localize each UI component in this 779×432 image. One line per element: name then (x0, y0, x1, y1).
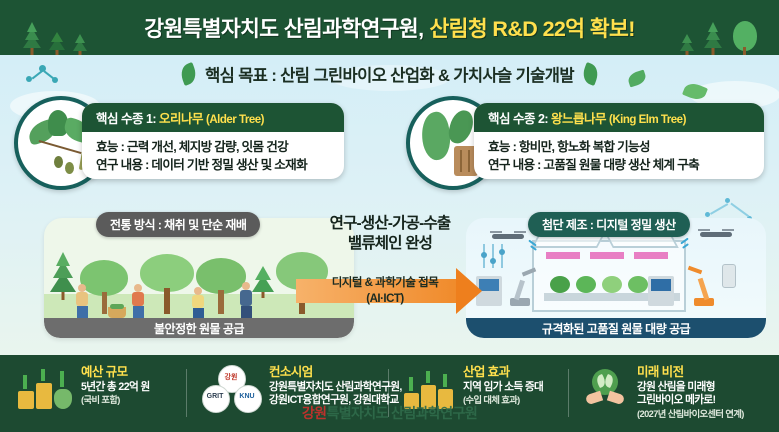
smart-pill-text: 첨단 제조 : 디지털 정밀 생산 (542, 218, 676, 232)
drone-icon (698, 228, 734, 242)
wifi-signal-icon (528, 240, 542, 252)
page-title: 강원특별자치도 산림과학연구원, 산림청 R&D 22억 확보! (0, 0, 779, 55)
tree-trunk (102, 292, 107, 314)
watermark-red-part: 강원 (302, 405, 327, 421)
header-title-accent: 산림청 R&D 22억 확보! (430, 12, 635, 43)
species-1-name: 오리나무 (159, 112, 203, 126)
species-card-2-header: 핵심 수종 2: 왕느릅나무 (King Elm Tree) (474, 103, 764, 132)
valuechain-line-2: 밸류체인 완성 (299, 234, 481, 254)
led-grow-light-icon (634, 252, 668, 259)
species-2-research: 연구 내용 : 고품질 원물 대량 생산 체계 구축 (488, 156, 764, 174)
led-grow-light-icon (546, 252, 580, 259)
subtitle-row: 핵심 목표 : 산림 그린바이오 산업화 & 가치사슬 기술개발 (0, 55, 779, 93)
robot-arm-icon (690, 268, 720, 306)
wood-grain-shape (468, 150, 470, 172)
worker-figure-icon (132, 284, 144, 318)
arrow-label: 디지털 & 과학기술 접목 (AI·ICT) (300, 276, 470, 307)
logo-grit-text: GRIT (202, 393, 228, 400)
harvest-crop-shape (110, 304, 124, 309)
pine-tree-icon (252, 258, 274, 298)
remote-control-icon (722, 264, 736, 288)
smart-manufacturing-pill: 첨단 제조 : 디지털 정밀 생산 (528, 212, 690, 237)
species-2-name: 왕느릅나무 (551, 112, 606, 126)
industry-title: 산업 효과 (463, 365, 543, 381)
smart-caption-text: 규격화된 고품질 원물 대량 공급 (542, 320, 690, 337)
species-card-1: 핵심 수종 1: 오리나무 (Alder Tree) 효능 : 근력 개선, 체… (82, 103, 344, 179)
plant-icon (628, 276, 648, 293)
worker-figure-icon (192, 287, 204, 318)
species-card-1-body: 효능 : 근력 개선, 체지방 감량, 잇몸 건강 연구 내용 : 데이터 기반… (82, 132, 344, 179)
tree-trunk (164, 288, 170, 314)
plant-icon (550, 276, 570, 293)
watermark-rest-part: 특별자치도 산림과학연구원 (326, 405, 477, 421)
wood-grain-shape (460, 150, 462, 172)
sliders-icon (480, 244, 510, 270)
drone-icon (490, 230, 526, 244)
watermark-text: 강원특별자치도 산림과학연구원 (0, 403, 779, 423)
led-grow-light-icon (590, 252, 624, 259)
pine-tree-icon (50, 248, 76, 300)
species-1-name-en: (Alder Tree) (206, 114, 264, 126)
alder-cone-shape (54, 156, 63, 168)
subtitle-text: 핵심 목표 : 산림 그린바이오 산업화 & 가치사슬 기술개발 (205, 62, 574, 86)
leaf-icon (580, 62, 601, 86)
species-card-2-body: 효능 : 항비만, 항노화 복합 기능성 연구 내용 : 고품질 원물 대량 생… (474, 132, 764, 179)
species-1-effect: 효능 : 근력 개선, 체지방 감량, 잇몸 건강 (96, 138, 344, 156)
smart-manufacturing-caption: 규격화된 고품질 원물 대량 공급 (466, 318, 766, 338)
control-terminal-icon (648, 276, 674, 306)
alder-cone-shape (65, 162, 74, 174)
species-2-label: 핵심 수종 2: (488, 112, 548, 126)
species-1-research: 연구 내용 : 데이터 기반 정밀 생산 및 소재화 (96, 156, 344, 174)
branch-shape (39, 140, 82, 154)
worker-figure-icon (240, 282, 252, 318)
budget-title: 예산 규모 (81, 365, 150, 381)
traditional-method-pill: 전통 방식 : 채취 및 단순 재배 (96, 212, 260, 237)
header-banner: 강원특별자치도 산림과학연구원, 산림청 R&D 22억 확보! (0, 0, 779, 55)
robot-arm-icon (508, 270, 536, 306)
species-card-2: 핵심 수종 2: 왕느릅나무 (King Elm Tree) 효능 : 항비만,… (474, 103, 764, 179)
budget-line-1: 5년간 총 22억 원 (81, 381, 150, 395)
logo-gangwon-text: 강원 (218, 372, 244, 382)
tree-trunk (218, 290, 224, 314)
species-2-effect: 효능 : 항비만, 항노화 복합 기능성 (488, 138, 764, 156)
traditional-pill-text: 전통 방식 : 채취 및 단순 재배 (110, 218, 246, 232)
wifi-signal-icon (680, 238, 694, 250)
elm-leaf-shape (446, 108, 476, 146)
plant-icon (576, 276, 596, 293)
vision-title: 미래 비전 (637, 365, 744, 381)
worker-figure-icon (76, 284, 88, 318)
traditional-method-caption: 불안정한 원물 공급 (44, 318, 354, 338)
consortium-title: 컨소시엄 (269, 365, 402, 381)
species-card-1-header: 핵심 수종 1: 오리나무 (Alder Tree) (82, 103, 344, 132)
leaf-icon (178, 62, 199, 86)
species-2-name-en: (King Elm Tree) (609, 114, 686, 126)
valuechain-line-1: 연구-생산-가공-수출 (299, 214, 481, 234)
header-title-main: 강원특별자치도 산림과학연구원, (144, 12, 423, 43)
arrow-label-line-2: (AI·ICT) (300, 292, 470, 308)
valuechain-title: 연구-생산-가공-수출 밸류체인 완성 (299, 214, 481, 255)
industry-line-1: 지역 임가 소득 증대 (463, 381, 543, 395)
traditional-caption-text: 불안정한 원물 공급 (154, 320, 244, 337)
species-1-label: 핵심 수종 1: (96, 112, 156, 126)
broadleaf-tree-icon (140, 254, 194, 292)
plant-icon (602, 276, 622, 293)
infographic-poster: 강원특별자치도 산림과학연구원, 산림청 R&D 22억 확보! 핵심 목표 :… (0, 0, 779, 432)
consortium-line-1: 강원특별자치도 산림과학연구원, (269, 381, 402, 395)
vision-line-1: 강원 산림을 미래형 (637, 381, 744, 395)
arrow-label-line-1: 디지털 & 과학기술 접목 (300, 276, 470, 292)
logo-knu-text: KNU (234, 393, 260, 400)
